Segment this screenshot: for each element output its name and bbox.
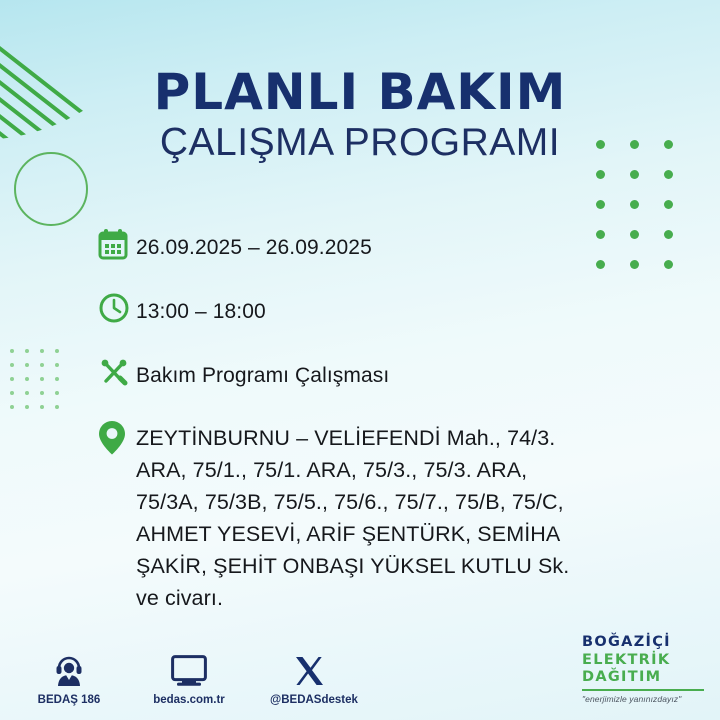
outage-info-list: 26.09.2025 – 26.09.2025 13:00 – 18:00 Ba… bbox=[98, 228, 658, 614]
dot bbox=[630, 200, 639, 209]
info-location-value: ZEYTİNBURNU – VELİEFENDİ Mah., 74/3. ARA… bbox=[136, 420, 581, 614]
info-row-work-type: Bakım Programı Çalışması bbox=[98, 356, 658, 396]
dot bbox=[10, 349, 14, 353]
company-logo: BOĞAZİÇİ ELEKTRİK DAĞITIM "enerjimizle y… bbox=[582, 634, 706, 704]
contact-phone-label: BEDAŞ 186 bbox=[30, 694, 108, 706]
dot bbox=[55, 405, 59, 409]
dot bbox=[596, 170, 605, 179]
dot-grid-decoration-left bbox=[10, 349, 70, 419]
dot bbox=[25, 405, 29, 409]
dot bbox=[40, 363, 44, 367]
logo-tagline: "enerjimizle yanınızdayız" bbox=[582, 694, 706, 704]
dot bbox=[664, 230, 673, 239]
logo-line-bogazici: BOĞAZİÇİ bbox=[582, 634, 706, 652]
dot bbox=[664, 170, 673, 179]
dot bbox=[55, 391, 59, 395]
dot bbox=[55, 349, 59, 353]
contact-x-label: @BEDASdestek bbox=[270, 694, 348, 706]
page-header: PLANLI BAKIM ÇALIŞMA PROGRAMI bbox=[0, 66, 720, 165]
dot bbox=[25, 391, 29, 395]
clock-icon bbox=[98, 292, 136, 332]
x-twitter-icon bbox=[270, 647, 348, 687]
dot bbox=[630, 170, 639, 179]
dot bbox=[10, 405, 14, 409]
dot bbox=[55, 363, 59, 367]
dot bbox=[25, 363, 29, 367]
dot bbox=[25, 349, 29, 353]
contact-phone[interactable]: BEDAŞ 186 bbox=[30, 647, 108, 706]
tools-icon bbox=[98, 356, 136, 396]
dot bbox=[596, 200, 605, 209]
page-title: PLANLI BAKIM bbox=[0, 66, 720, 118]
info-row-date: 26.09.2025 – 26.09.2025 bbox=[98, 228, 658, 268]
logo-line-dagitim: DAĞITIM bbox=[582, 669, 706, 687]
dot bbox=[40, 377, 44, 381]
dot bbox=[40, 349, 44, 353]
dot bbox=[40, 391, 44, 395]
page-subtitle: ÇALIŞMA PROGRAMI bbox=[0, 122, 720, 165]
dot bbox=[55, 377, 59, 381]
contact-website-label: bedas.com.tr bbox=[150, 694, 228, 706]
dot bbox=[664, 260, 673, 269]
logo-line-elektrik: ELEKTRİK bbox=[582, 652, 706, 670]
support-agent-icon bbox=[30, 647, 108, 687]
dot bbox=[10, 377, 14, 381]
contact-website[interactable]: bedas.com.tr bbox=[150, 647, 228, 706]
logo-divider bbox=[582, 689, 704, 691]
dot bbox=[25, 377, 29, 381]
info-work-type-value: Bakım Programı Çalışması bbox=[136, 356, 389, 391]
info-date-value: 26.09.2025 – 26.09.2025 bbox=[136, 228, 372, 263]
dot bbox=[10, 391, 14, 395]
dot bbox=[10, 363, 14, 367]
dot bbox=[664, 200, 673, 209]
location-pin-icon bbox=[98, 420, 136, 460]
calendar-icon bbox=[98, 228, 136, 268]
dot bbox=[40, 405, 44, 409]
info-time-value: 13:00 – 18:00 bbox=[136, 292, 266, 327]
contact-x-account[interactable]: @BEDASdestek bbox=[270, 647, 348, 706]
monitor-icon bbox=[150, 647, 228, 687]
info-row-location: ZEYTİNBURNU – VELİEFENDİ Mah., 74/3. ARA… bbox=[98, 420, 658, 614]
info-row-time: 13:00 – 18:00 bbox=[98, 292, 658, 332]
footer-contacts: BEDAŞ 186 bedas.com.tr @BEDASdestek bbox=[30, 647, 348, 706]
